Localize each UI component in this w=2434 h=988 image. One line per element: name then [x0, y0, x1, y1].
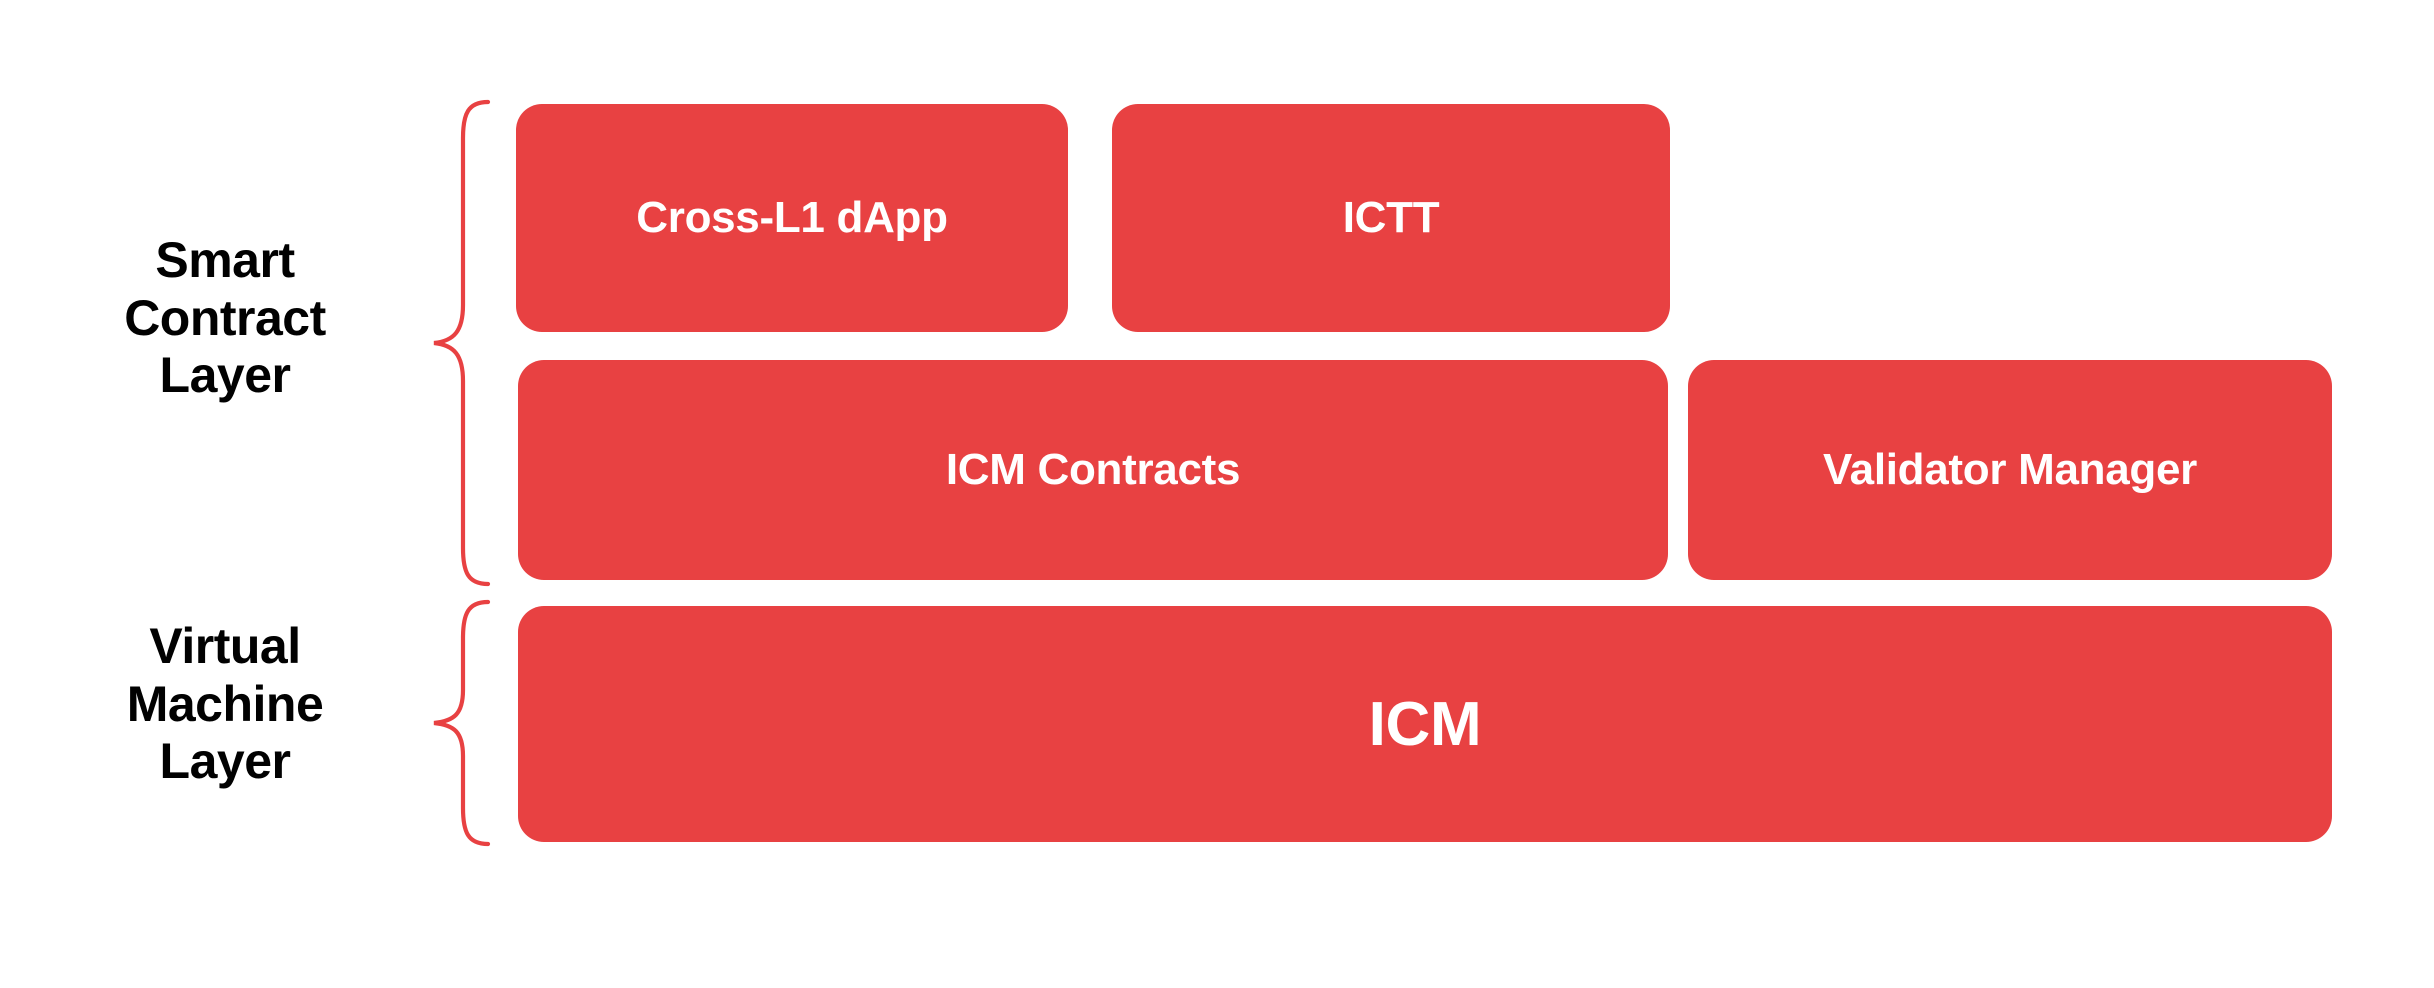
layer-label-smart-contract: Smart Contract Layer [60, 232, 390, 405]
curly-brace-icon [430, 98, 492, 588]
curly-brace-icon [430, 598, 492, 848]
node-validator-manager[interactable]: Validator Manager [1688, 360, 2332, 580]
node-ictt[interactable]: ICTT [1112, 104, 1670, 332]
layer-label-virtual-machine: Virtual Machine Layer [60, 618, 390, 791]
curly-brace-icon-smart-contract [430, 98, 492, 588]
node-icm-contracts-label: ICM Contracts [946, 445, 1240, 495]
node-validator-manager-label: Validator Manager [1823, 445, 2197, 495]
diagram-canvas: Smart Contract Layer Cross-L1 dApp ICTT … [0, 0, 2434, 988]
node-icm[interactable]: ICM [518, 606, 2332, 842]
node-cross-l1-dapp-label: Cross-L1 dApp [636, 193, 947, 243]
node-icm-contracts[interactable]: ICM Contracts [518, 360, 1668, 580]
curly-brace-icon-virtual-machine [430, 598, 492, 848]
node-cross-l1-dapp[interactable]: Cross-L1 dApp [516, 104, 1068, 332]
node-ictt-label: ICTT [1343, 193, 1440, 243]
node-icm-label: ICM [1369, 689, 1482, 760]
